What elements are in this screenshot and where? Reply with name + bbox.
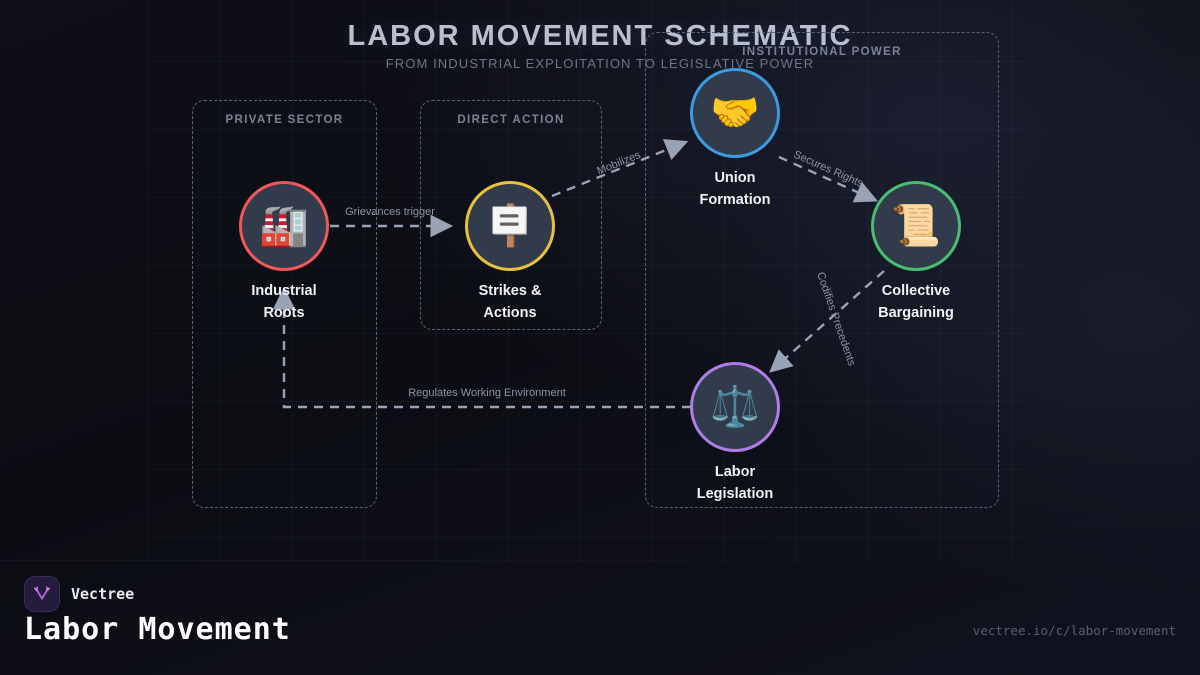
edge-label-regulates: Regulates Working Environment	[408, 387, 566, 399]
edge-label-grievances: Grievances trigger	[345, 206, 435, 218]
edge-layer: Grievances trigger Mobilizes Secures Rig…	[0, 0, 1200, 675]
footer-url[interactable]: vectree.io/c/labor-movement	[973, 623, 1176, 638]
node-label: Strikes &Actions	[420, 280, 600, 325]
vectree-mark-icon	[32, 584, 52, 604]
node-union-formation[interactable]: 🤝 UnionFormation	[735, 113, 736, 114]
footer-divider	[0, 560, 1200, 561]
node-label: UnionFormation	[645, 167, 825, 212]
handshake-icon: 🤝	[690, 68, 780, 158]
scales-icon: ⚖️	[690, 362, 780, 452]
edge-label-mobilizes: Mobilizes	[595, 149, 642, 177]
node-label: LaborLegislation	[645, 461, 825, 506]
node-strikes-actions[interactable]: 🪧 Strikes &Actions	[510, 226, 511, 227]
footer-title: Labor Movement	[24, 612, 291, 647]
node-label: IndustrialRoots	[194, 280, 374, 325]
picket-sign-glyph: 🪧	[485, 206, 535, 246]
factory-glyph: 🏭	[259, 206, 309, 246]
brand-name: Vectree	[71, 585, 134, 603]
node-industrial-roots[interactable]: 🏭 IndustrialRoots	[284, 226, 285, 227]
node-collective-bargaining[interactable]: 📜 CollectiveBargaining	[916, 226, 917, 227]
schematic-canvas: LABOR MOVEMENT SCHEMATIC FROM INDUSTRIAL…	[0, 0, 1200, 675]
picket-sign-icon: 🪧	[465, 181, 555, 271]
scroll-icon: 📜	[871, 181, 961, 271]
handshake-glyph: 🤝	[710, 93, 760, 133]
factory-icon: 🏭	[239, 181, 329, 271]
scroll-glyph: 📜	[891, 206, 941, 246]
node-labor-legislation[interactable]: ⚖️ LaborLegislation	[735, 407, 736, 408]
vectree-logo-icon	[24, 576, 60, 612]
node-label: CollectiveBargaining	[826, 280, 1006, 325]
scales-glyph: ⚖️	[710, 387, 760, 427]
brand-row: Vectree	[24, 576, 134, 612]
